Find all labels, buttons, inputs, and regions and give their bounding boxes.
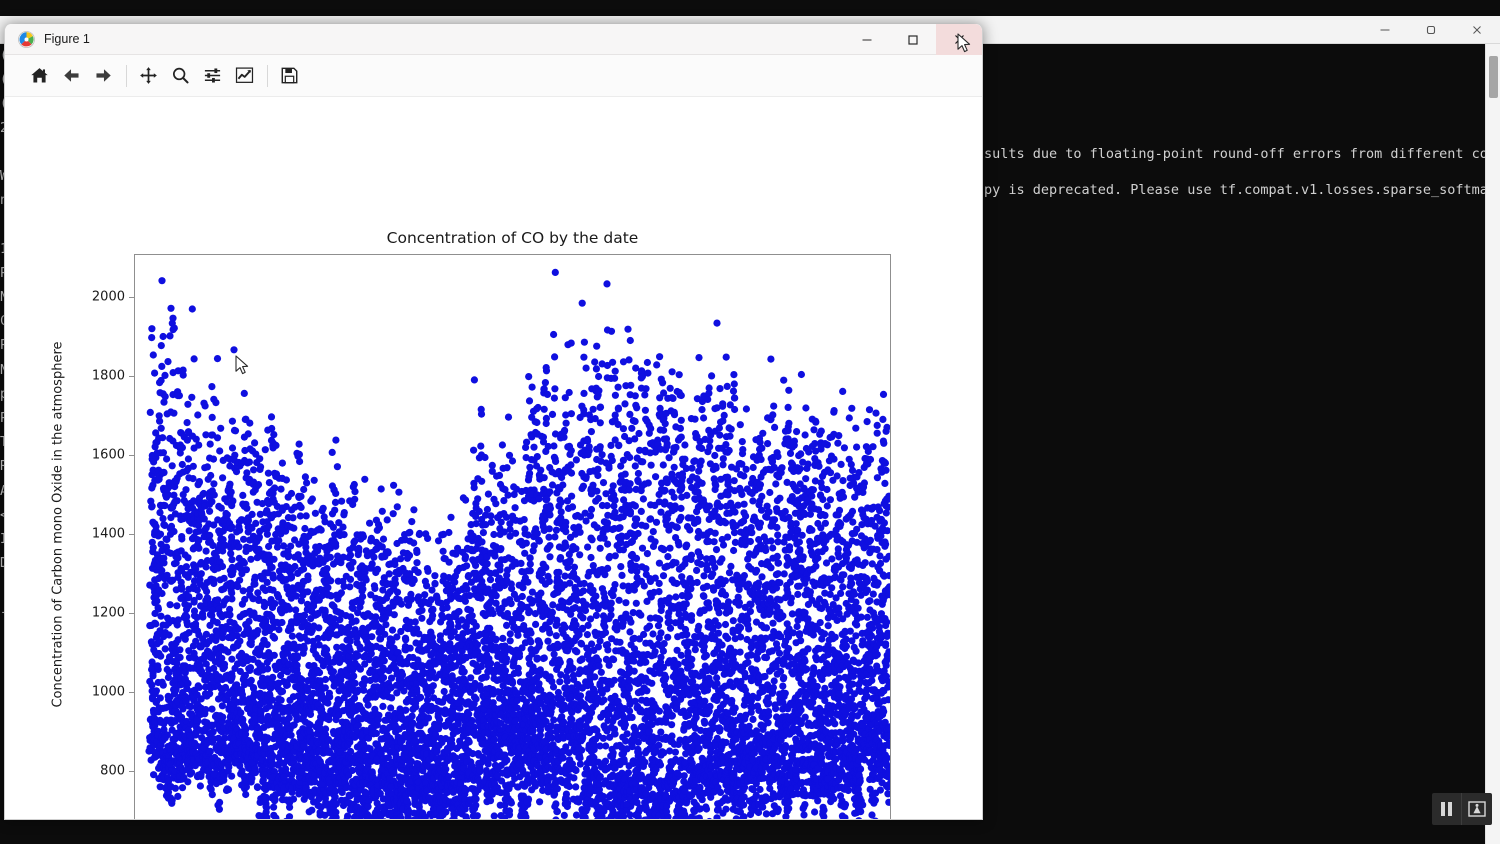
scatter-plot [135, 255, 891, 820]
pan-move-icon[interactable] [133, 61, 164, 91]
terminal-line: py is deprecated. Please use tf.compat.v… [984, 172, 1500, 208]
figure-canvas[interactable]: Concentration of CO by the date Concentr… [5, 97, 983, 819]
zoom-magnifier-icon[interactable] [165, 61, 196, 91]
y-axis-label: Concentration of Carbon mono Oxide in th… [51, 245, 66, 805]
terminal-scrollbar[interactable] [1485, 44, 1500, 844]
y-tick-label: 800 [77, 764, 125, 779]
forward-arrow-icon[interactable] [88, 61, 119, 91]
recording-overlay[interactable] [1432, 793, 1492, 825]
bg-minimize-icon[interactable] [1362, 16, 1408, 44]
figure-window-title: Figure 1 [44, 32, 90, 46]
y-tick-label: 2000 [77, 290, 125, 305]
terminal-scrollbar-thumb[interactable] [1489, 56, 1498, 98]
y-tick-label: 1800 [77, 369, 125, 384]
terminal-line: sults due to floating-point round-off er… [984, 136, 1500, 172]
bg-close-icon[interactable] [1454, 16, 1500, 44]
background-window-controls[interactable] [1362, 16, 1500, 44]
y-tick-label: 1600 [77, 448, 125, 463]
bg-restore-icon[interactable] [1408, 16, 1454, 44]
y-axis-ticks: 600800100012001400160018002000 [78, 254, 134, 820]
edit-curve-parameters-icon[interactable] [229, 61, 260, 91]
plot-axes[interactable] [134, 254, 891, 820]
home-icon[interactable] [24, 61, 55, 91]
maximize-button[interactable] [890, 24, 936, 55]
save-floppy-icon[interactable] [274, 61, 305, 91]
matplotlib-logo-icon [18, 31, 35, 48]
present-screen-icon[interactable] [1462, 793, 1492, 825]
pause-icon[interactable] [1432, 793, 1462, 825]
toolbar-divider [267, 65, 268, 87]
chart-title: Concentration of CO by the date [134, 229, 891, 247]
y-tick-label: 1400 [77, 527, 125, 542]
configure-subplots-icon[interactable] [197, 61, 228, 91]
back-arrow-icon[interactable] [56, 61, 87, 91]
y-tick-label: 1200 [77, 606, 125, 621]
figure-toolbar[interactable] [5, 55, 982, 97]
screen: sults due to floating-point round-off er… [0, 0, 1500, 844]
matplotlib-figure-window[interactable]: Figure 1 [4, 24, 983, 820]
figure-window-controls[interactable] [844, 24, 982, 55]
close-button[interactable] [936, 24, 982, 55]
toolbar-divider [126, 65, 127, 87]
figure-titlebar[interactable]: Figure 1 [5, 24, 982, 55]
y-tick-label: 1000 [77, 685, 125, 700]
minimize-button[interactable] [844, 24, 890, 55]
